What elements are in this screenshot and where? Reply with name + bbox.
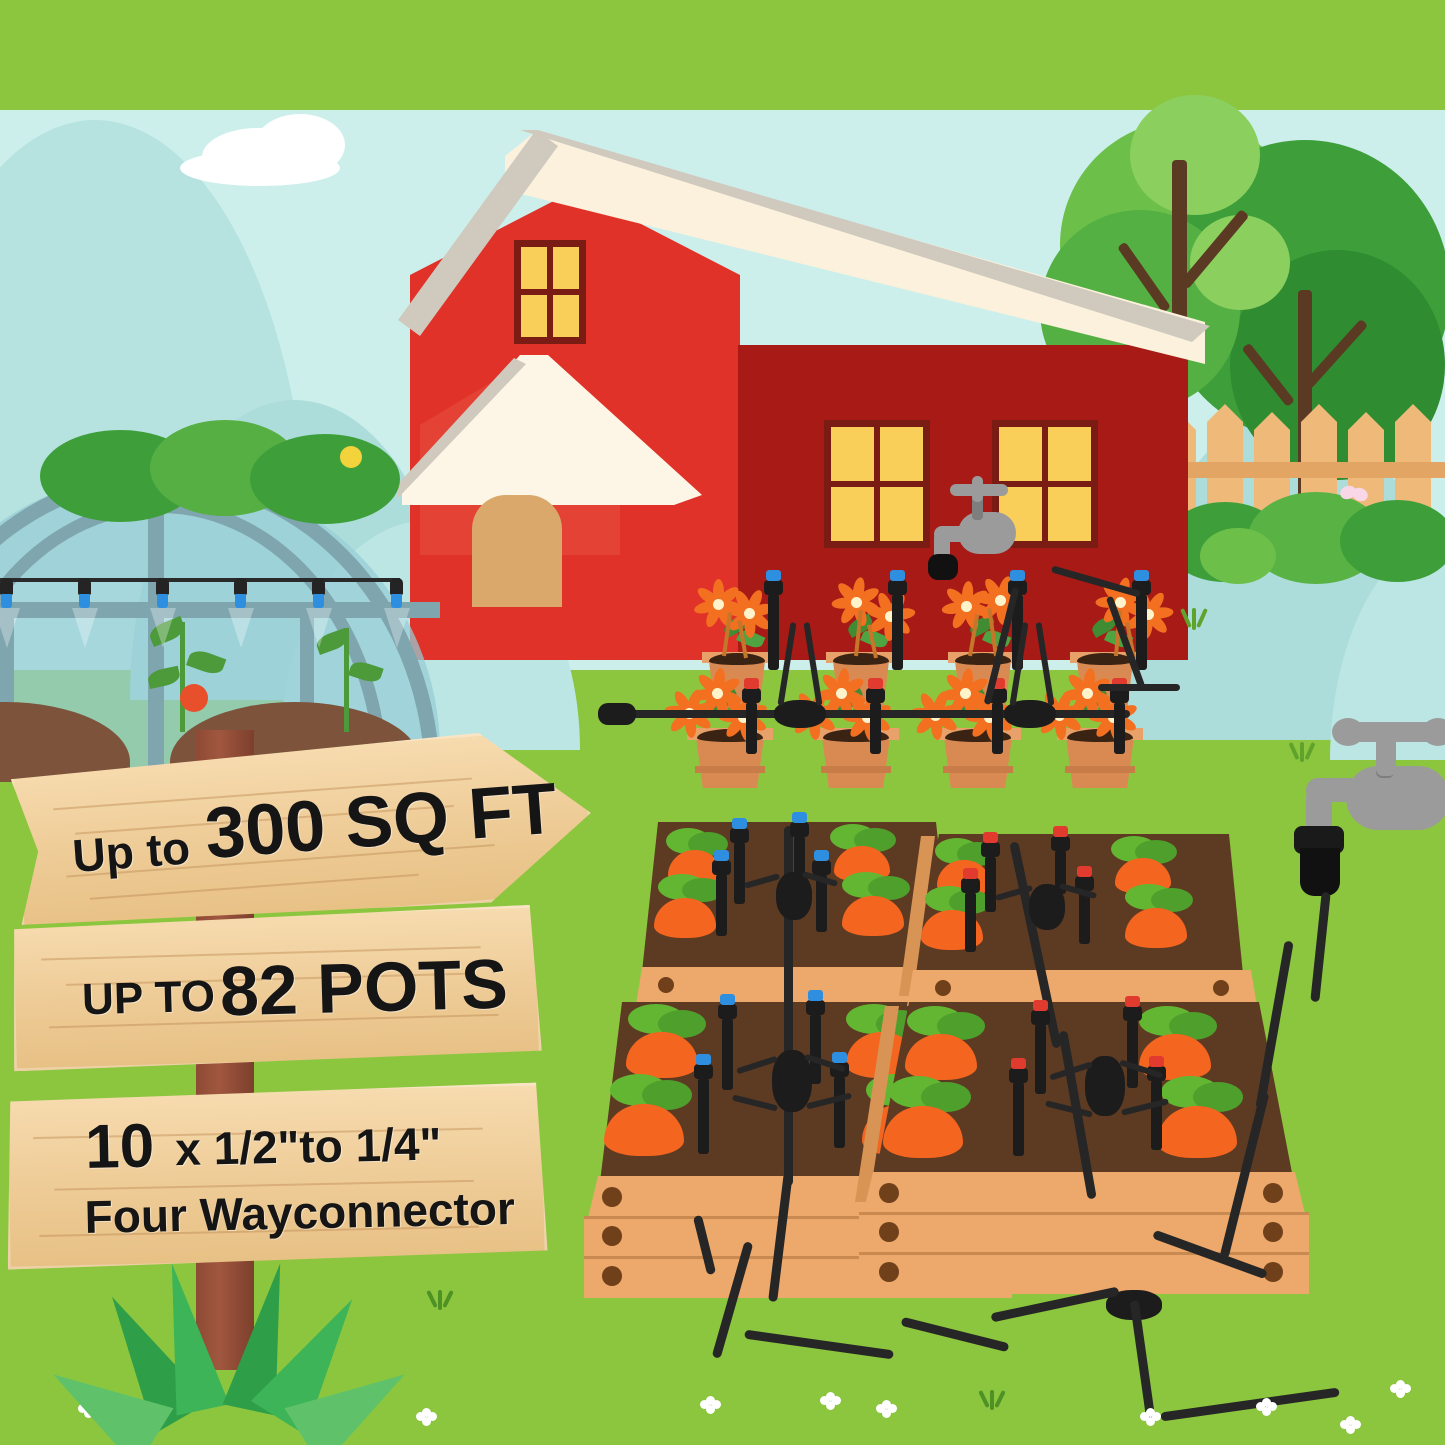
- four-way-connector-upper[interactable]: [740, 838, 850, 934]
- tree-foliage-highlight-1: [1130, 95, 1260, 215]
- drip-stake-red[interactable]: [965, 892, 976, 952]
- drip-stake-red[interactable]: [1035, 1024, 1046, 1094]
- sign-connector-count: 10: [85, 1111, 155, 1183]
- bed-plank-lower-3: [859, 1252, 1309, 1294]
- daisy-flower: [726, 590, 772, 636]
- mist-spray: [72, 608, 98, 648]
- drip-stake-red[interactable]: [1127, 1020, 1138, 1088]
- greenhouse-mister-line: [0, 578, 400, 582]
- bed-plank-upper: [907, 970, 1257, 1006]
- bush: [250, 434, 400, 524]
- bed-bolt: [879, 1222, 899, 1242]
- drip-stake-red[interactable]: [1151, 1080, 1162, 1150]
- drip-stake-red[interactable]: [1013, 1082, 1024, 1156]
- drip-stake-blue[interactable]: [722, 1018, 733, 1090]
- window-side-left: [824, 420, 930, 548]
- mist-spray: [150, 608, 176, 648]
- supply-hose: [1098, 684, 1180, 691]
- mister-head[interactable]: [78, 578, 91, 595]
- bed-bolt: [1263, 1183, 1283, 1203]
- drip-stake-red[interactable]: [746, 702, 757, 754]
- cloud-left-c: [180, 150, 340, 186]
- potted-plant-row: [660, 560, 1100, 790]
- mister-head[interactable]: [234, 578, 247, 595]
- bed-plank-seam: [859, 1212, 1309, 1215]
- sign-coverage-prefix: Up to: [71, 820, 192, 882]
- drip-stake-blue[interactable]: [734, 842, 745, 904]
- drip-stake-blue[interactable]: [1136, 594, 1147, 670]
- mist-spray: [0, 608, 20, 648]
- mist-spray: [384, 608, 410, 648]
- drip-stake-blue[interactable]: [768, 594, 779, 670]
- mist-spray: [228, 608, 254, 648]
- sign-pots[interactable]: UP TO 82 POTS: [10, 905, 542, 1080]
- sign-pots-prefix: UP TO: [81, 972, 215, 1026]
- drip-stake-red[interactable]: [992, 702, 1003, 754]
- drip-stake-red[interactable]: [985, 856, 996, 912]
- sign-connector-subtitle: Four Wayconnector: [84, 1181, 515, 1244]
- sign-connector-spec: x 1/2"to 1/4": [175, 1117, 442, 1177]
- sign-connector[interactable]: 10 x 1/2"to 1/4" Four Wayconnector: [4, 1082, 548, 1279]
- bed-bolt: [1213, 980, 1229, 996]
- drip-stake-blue[interactable]: [716, 874, 727, 936]
- bed-bolt: [658, 977, 674, 993]
- four-way-connector-upper[interactable]: [991, 852, 1111, 952]
- faucet-yard-connector: [1300, 848, 1340, 896]
- bed-plank-lower-2: [859, 1212, 1309, 1254]
- signpost: Up to 300 SQ FT UP TO 82 POTS 10 x 1/2"t…: [0, 700, 620, 1445]
- daisy-flower: [1126, 592, 1170, 636]
- mister-head[interactable]: [390, 578, 403, 595]
- drip-stake-blue[interactable]: [834, 1076, 845, 1148]
- four-way-connector-lower[interactable]: [728, 1012, 858, 1142]
- mister-head[interactable]: [312, 578, 325, 595]
- faucet-house-handle-stem: [972, 476, 983, 502]
- faucet-yard[interactable]: [1290, 716, 1445, 956]
- sign-pots-value: 82 POTS: [219, 944, 509, 1032]
- faucet-yard-handle-stem: [1376, 730, 1396, 776]
- mister-head[interactable]: [156, 578, 169, 595]
- drip-stake-red[interactable]: [1114, 702, 1125, 754]
- drip-stake-red[interactable]: [870, 702, 881, 754]
- bed-plank-seam: [859, 1252, 1309, 1255]
- drip-stake-red[interactable]: [1079, 890, 1090, 944]
- fence-rail: [1155, 462, 1445, 478]
- daisy-flower: [868, 594, 912, 638]
- faucet-yard-handle-knob-left[interactable]: [1332, 718, 1364, 746]
- window-gable: [514, 240, 586, 344]
- greenhouse-rail-horizontal: [0, 602, 440, 618]
- infographic-canvas: Up to 300 SQ FT UP TO 82 POTS 10 x 1/2"t…: [0, 0, 1445, 1445]
- four-way-connector-lower[interactable]: [1041, 1020, 1175, 1150]
- bed-bolt: [1263, 1222, 1283, 1242]
- drip-stake-blue[interactable]: [892, 594, 903, 670]
- yellow-flower: [340, 446, 362, 468]
- front-door[interactable]: [472, 495, 562, 607]
- drip-stake-blue[interactable]: [810, 1014, 821, 1084]
- bed-bolt: [935, 980, 951, 996]
- faucet-yard-body: [1346, 766, 1445, 830]
- mister-head[interactable]: [0, 578, 13, 595]
- bush: [1340, 500, 1445, 582]
- bed-bolt: [879, 1183, 899, 1203]
- mist-spray: [306, 608, 332, 648]
- bush: [1200, 528, 1276, 584]
- drip-stake-blue[interactable]: [698, 1078, 709, 1154]
- bed-bolt: [879, 1262, 899, 1282]
